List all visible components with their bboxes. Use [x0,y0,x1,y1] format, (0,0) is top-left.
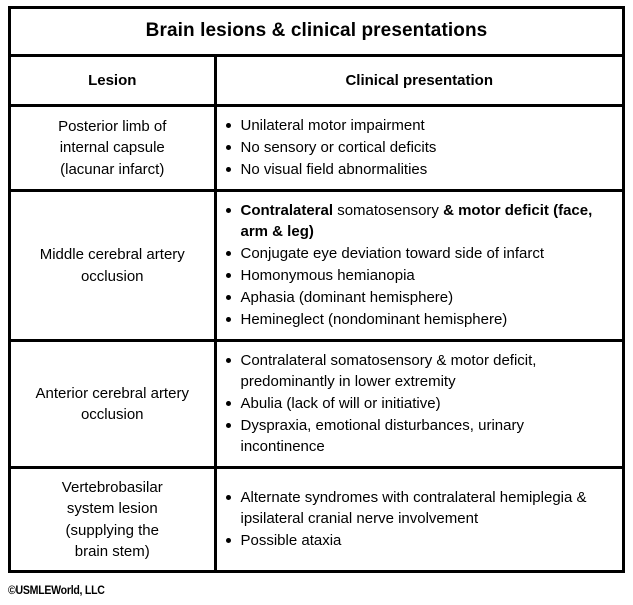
item-text: Abulia (lack of will or initiative) [241,395,441,412]
list-item: Alternate syndromes with contralateral h… [217,487,609,529]
item-text: No visual field abnormalities [241,161,428,178]
list-item: Aphasia (dominant hemisphere) [217,287,609,308]
table-row: Vertebrobasilarsystem lesion(supplying t… [11,468,622,571]
list-item: Abulia (lack of will or initiative) [217,393,609,414]
lesion-label: Vertebrobasilarsystem lesion(supplying t… [11,468,215,571]
list-item: Conjugate eye deviation toward side of i… [217,243,609,264]
list-item: Possible ataxia [217,530,609,551]
clinical-presentation-cell: Unilateral motor impairmentNo sensory or… [215,106,622,191]
table-header-row: Lesion Clinical presentation [11,56,622,106]
table-data-rows: Posterior limb ofinternal capsule(lacuna… [11,106,622,571]
list-item: Contralateral somatosensory & motor defi… [217,350,609,392]
list-item: Hemineglect (nondominant hemisphere) [217,309,609,330]
brain-lesions-table-container: Brain lesions & clinical presentations L… [8,6,625,573]
lesion-label: Anterior cerebral arteryocclusion [11,341,215,468]
item-text: Alternate syndromes with contralateral h… [241,489,587,527]
clinical-presentation-list: Alternate syndromes with contralateral h… [217,487,613,551]
table-body: Brain lesions & clinical presentations L… [11,9,622,106]
table-row: Posterior limb ofinternal capsule(lacuna… [11,106,622,191]
list-item: Contralateral somatosensory & motor defi… [217,200,609,242]
clinical-presentation-cell: Contralateral somatosensory & motor defi… [215,341,622,468]
page-root: Brain lesions & clinical presentations L… [0,0,633,605]
clinical-presentation-cell: Contralateral somatosensory & motor defi… [215,191,622,341]
column-header-clinical-presentation: Clinical presentation [215,56,622,106]
item-text: No sensory or cortical deficits [241,139,437,156]
item-text: Conjugate eye deviation toward side of i… [241,245,545,262]
table-title-row: Brain lesions & clinical presentations [11,9,622,56]
lesion-label: Posterior limb ofinternal capsule(lacuna… [11,106,215,191]
item-text: Dyspraxia, emotional disturbances, urina… [241,417,524,455]
table-row: Middle cerebral arteryocclusionContralat… [11,191,622,341]
brain-lesions-table: Brain lesions & clinical presentations L… [11,9,622,570]
list-item: Dyspraxia, emotional disturbances, urina… [217,415,609,457]
clinical-presentation-list: Unilateral motor impairmentNo sensory or… [217,115,613,180]
item-text: Contralateral somatosensory & motor defi… [241,352,537,390]
copyright-notice: ©USMLEWorld, LLC [8,583,105,597]
item-text: Hemineglect (nondominant hemisphere) [241,311,508,328]
lesion-label: Middle cerebral arteryocclusion [11,191,215,341]
list-item: No visual field abnormalities [217,159,609,180]
clinical-presentation-list: Contralateral somatosensory & motor defi… [217,200,613,330]
item-text: Homonymous hemianopia [241,267,415,284]
table-row: Anterior cerebral arteryocclusionContral… [11,341,622,468]
table-title: Brain lesions & clinical presentations [11,9,622,56]
clinical-presentation-list: Contralateral somatosensory & motor defi… [217,350,613,457]
clinical-presentation-cell: Alternate syndromes with contralateral h… [215,468,622,571]
item-text: somatosensory [337,202,443,219]
list-item: No sensory or cortical deficits [217,137,609,158]
item-text: Possible ataxia [241,532,342,549]
item-text: Aphasia (dominant hemisphere) [241,289,454,306]
item-text: Unilateral motor impairment [241,117,425,134]
list-item: Unilateral motor impairment [217,115,609,136]
list-item: Homonymous hemianopia [217,265,609,286]
emphasis-text: Contralateral [241,202,338,219]
column-header-lesion: Lesion [11,56,215,106]
